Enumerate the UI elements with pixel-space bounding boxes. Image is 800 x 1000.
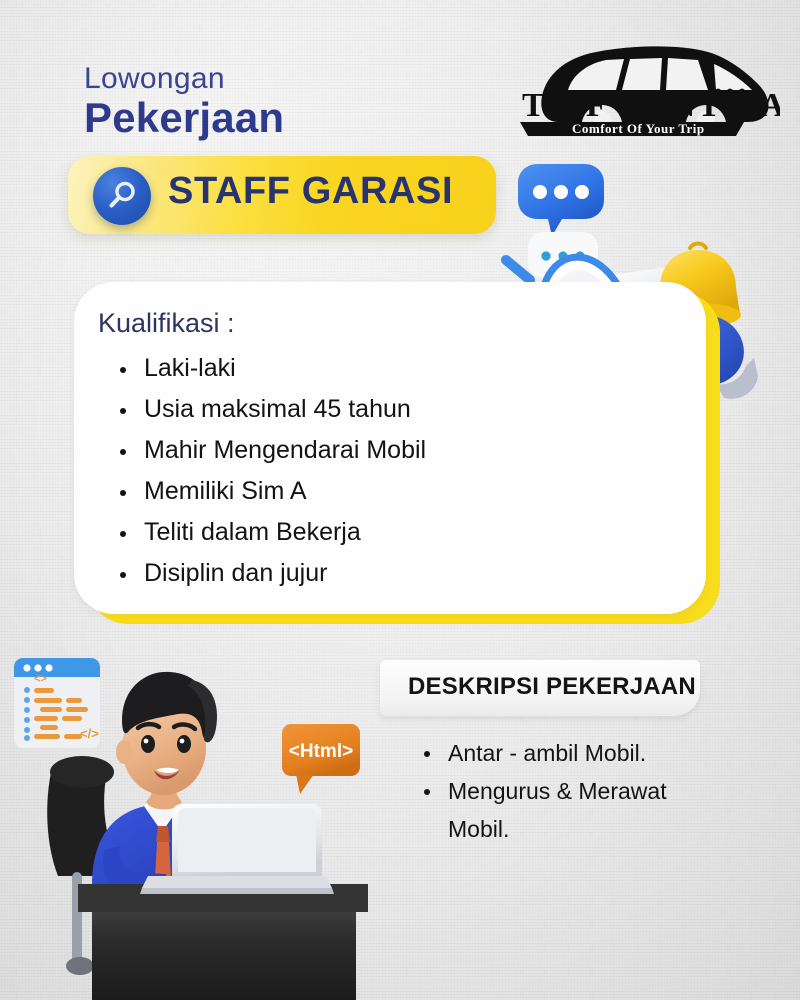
code-window-icon: </> <> [14, 658, 100, 748]
svg-text:</>: </> [80, 726, 99, 741]
job-vacancy-poster: Lowongan Pekerjaan TIFF RENT CAR [0, 0, 800, 1000]
qualifications-heading: Kualifikasi : [98, 308, 235, 339]
logo-brand-text: TIFF RENT CAR [522, 87, 780, 124]
html-bubble-text: <Html> [289, 741, 353, 762]
list-item: Memiliki Sim A [118, 471, 426, 512]
html-bubble-icon: <Html> [282, 724, 360, 794]
list-item: Teliti dalam Bekerja [118, 512, 426, 553]
list-item: Laki-laki [118, 348, 426, 389]
desk [78, 884, 368, 1000]
list-item: Disiplin dan jujur [118, 553, 426, 594]
svg-text:<>: <> [34, 673, 47, 685]
worker-illustration: </> <> [0, 636, 388, 1000]
list-item: Mengurus & Merawat Mobil. [420, 772, 720, 848]
logo-tagline-text: Comfort Of Your Trip [572, 121, 705, 136]
page-title: Pekerjaan [84, 94, 284, 142]
list-item: Usia maksimal 45 tahun [118, 389, 426, 430]
speech-bubble-blue-icon [518, 164, 604, 236]
description-list: Antar - ambil Mobil. Mengurus & Merawat … [420, 734, 720, 848]
position-title: STAFF GARASI [168, 170, 453, 213]
header-eyebrow: Lowongan [84, 62, 225, 96]
list-item: Mahir Mengendarai Mobil [118, 430, 426, 471]
description-heading: DESKRIPSI PEKERJAAN [408, 673, 696, 701]
magnifier-icon [93, 167, 151, 225]
worker-head [116, 672, 217, 810]
qualifications-list: Laki-laki Usia maksimal 45 tahun Mahir M… [118, 348, 426, 594]
brand-logo: TIFF RENT CAR Comfort Of Your Trip [512, 32, 780, 138]
list-item: Antar - ambil Mobil. [420, 734, 720, 772]
